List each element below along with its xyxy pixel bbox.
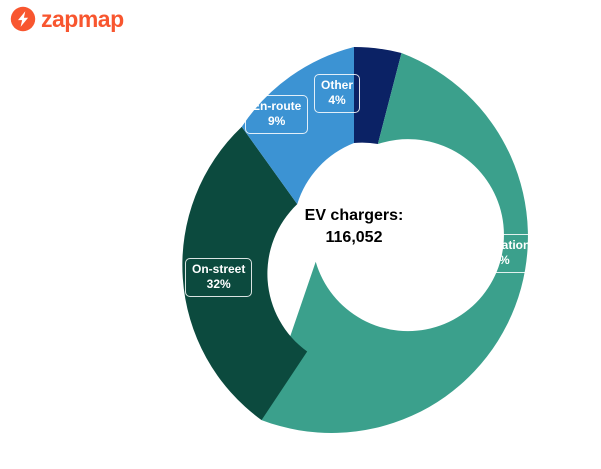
slice-label-on-street: On-street 32% — [185, 258, 252, 297]
slice-label-on-street-name: On-street — [192, 262, 245, 277]
slice-label-destination: Destination 54% — [458, 234, 537, 273]
slice-label-destination-name: Destination — [465, 238, 530, 253]
slice-label-other-value: 4% — [321, 93, 353, 108]
slice-label-en-route-value: 9% — [252, 114, 301, 129]
slice-label-other: Other 4% — [314, 74, 360, 113]
slice-label-other-name: Other — [321, 78, 353, 93]
slice-label-on-street-value: 32% — [192, 277, 245, 292]
slice-label-destination-value: 54% — [465, 253, 530, 268]
donut-chart: EV chargers: 116,052 Other 4% Destinatio… — [0, 0, 601, 469]
slice-label-en-route: En-route 9% — [245, 95, 308, 134]
slice-label-en-route-name: En-route — [252, 99, 301, 114]
